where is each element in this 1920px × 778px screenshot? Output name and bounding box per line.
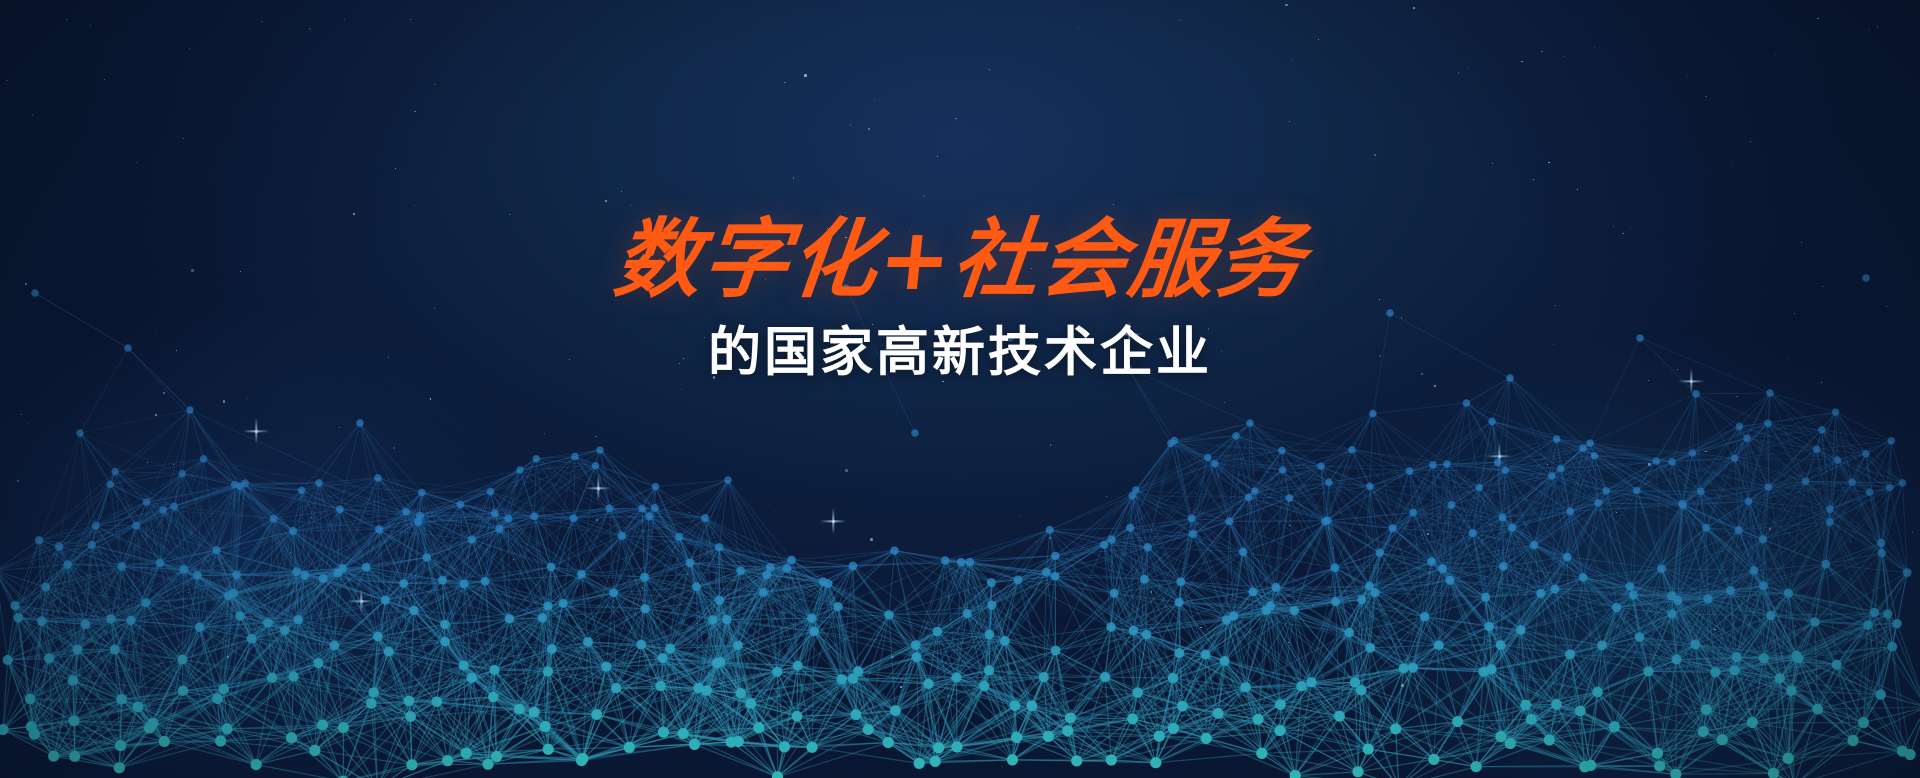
hero-banner: 数字化+社会服务 的国家高新技术企业 <box>0 0 1920 778</box>
page-title: 数字化+社会服务 <box>0 215 1920 305</box>
hero-text-block: 数字化+社会服务 的国家高新技术企业 <box>0 215 1920 382</box>
page-subtitle: 的国家高新技术企业 <box>0 323 1920 381</box>
background-vignette <box>0 0 1920 778</box>
